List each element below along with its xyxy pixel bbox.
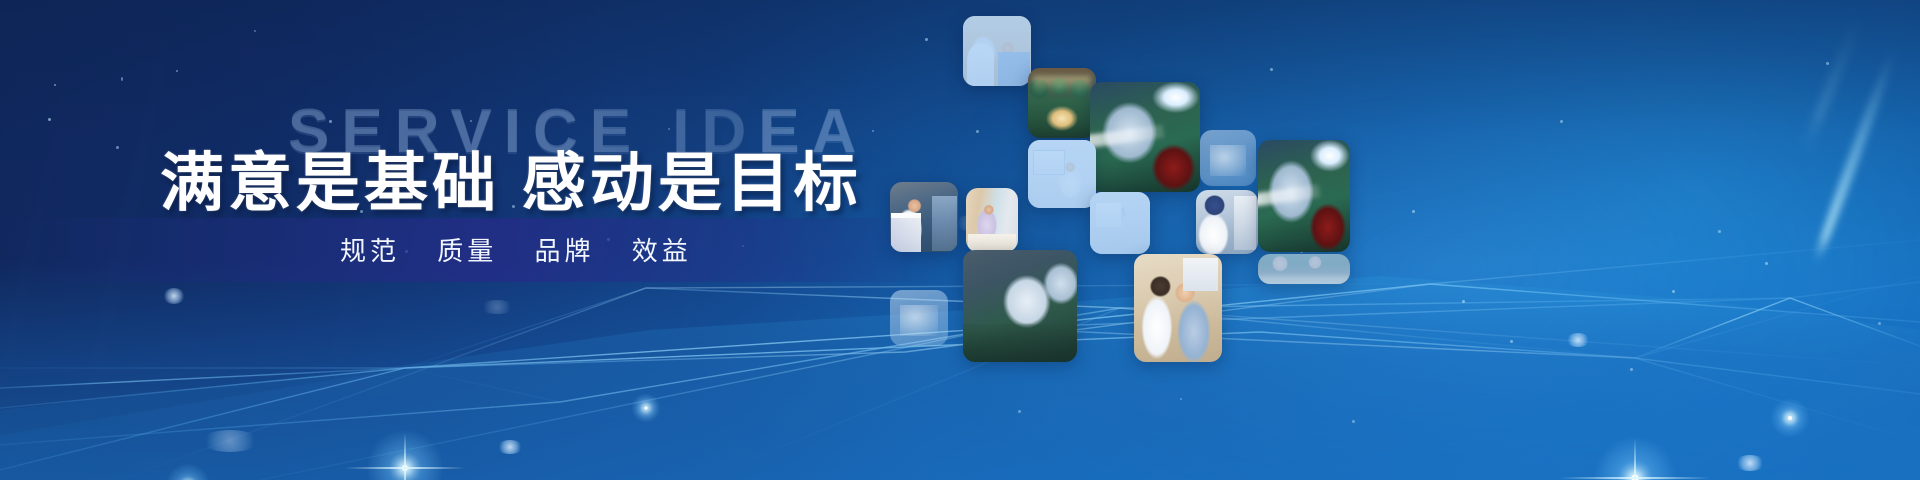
subtitle-keyword-3: 品牌 bbox=[535, 236, 595, 266]
photo-surgeon-lamp[interactable] bbox=[1090, 82, 1200, 192]
photo-meeting-ghost[interactable] bbox=[1258, 254, 1350, 284]
photo-monitor-ghost[interactable] bbox=[1090, 192, 1150, 254]
subtitle-keyword-1: 规范 bbox=[340, 236, 400, 266]
photo-surgery-team[interactable] bbox=[1028, 68, 1096, 138]
page-title: 满意是基础 感动是目标 bbox=[160, 132, 862, 224]
photo-operation-large[interactable] bbox=[963, 250, 1077, 362]
photo-consult-ghost[interactable] bbox=[963, 16, 1031, 86]
photo-endoscopy[interactable] bbox=[1196, 190, 1258, 254]
photo-surgeon-mask[interactable] bbox=[1258, 140, 1350, 252]
subtitle-keyword-2: 质量 bbox=[437, 236, 497, 266]
photo-stethoscope[interactable] bbox=[1134, 254, 1222, 362]
photo-empty-ghost[interactable] bbox=[890, 290, 948, 346]
photo-equipment-ghost[interactable] bbox=[1200, 130, 1256, 186]
service-idea-banner: SERVICE IDEA 满意是基础 感动是目标 规范 质量 品牌 效益 bbox=[0, 0, 1920, 480]
photo-office-ghost[interactable] bbox=[1028, 140, 1096, 208]
photo-nurse-ward[interactable] bbox=[966, 188, 1018, 252]
subtitle-keywords: 规范 质量 品牌 效益 bbox=[340, 231, 692, 268]
subtitle-keyword-4: 效益 bbox=[632, 236, 692, 266]
